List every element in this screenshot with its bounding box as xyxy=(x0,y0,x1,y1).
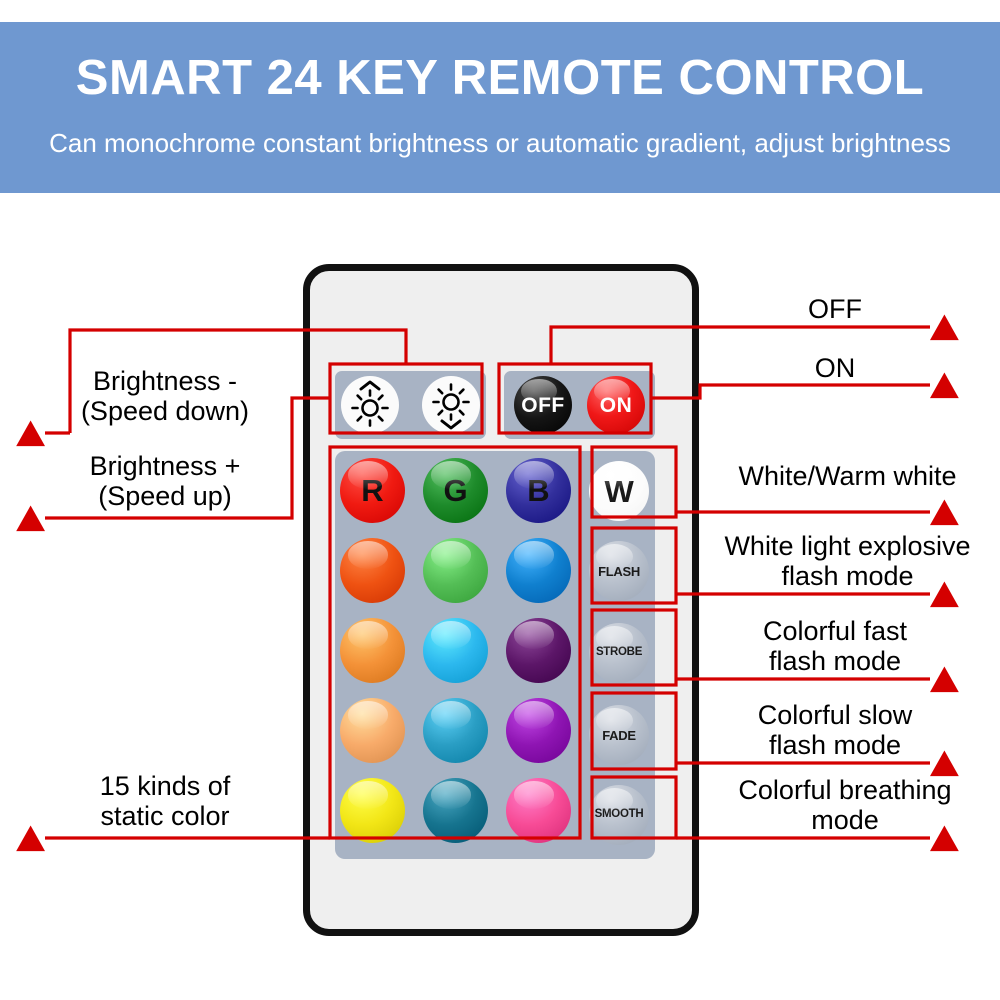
white-button[interactable]: W xyxy=(589,461,649,521)
callout-white-label: White/Warm white xyxy=(700,461,995,491)
keypad-panel: RGBWFLASHSTROBEFADESMOOTH xyxy=(335,451,655,859)
color-button-6[interactable] xyxy=(506,538,571,603)
callout-flash-line1: White light explosive xyxy=(695,531,1000,561)
color-button-15[interactable] xyxy=(506,778,571,843)
callout-smooth-line1: Colorful breathing xyxy=(695,775,995,805)
callout-flash-label: White light explosive flash mode xyxy=(695,531,1000,591)
color-button-4[interactable] xyxy=(340,538,405,603)
color-button-b[interactable]: B xyxy=(506,458,571,523)
color-button-5[interactable] xyxy=(423,538,488,603)
callout-on-label: ON xyxy=(700,353,970,383)
callout-off-label: OFF xyxy=(700,294,970,324)
off-button[interactable]: OFF xyxy=(514,376,572,434)
callout-brightness-down-label: Brightness - (Speed down) xyxy=(30,366,300,426)
callout-off-line1: OFF xyxy=(700,294,970,324)
callout-smooth-line2: mode xyxy=(695,805,995,835)
color-button-r[interactable]: R xyxy=(340,458,405,523)
callout-brightness-down-line2: (Speed down) xyxy=(30,396,300,426)
smooth-button[interactable]: SMOOTH xyxy=(589,785,649,845)
smooth-button-label: SMOOTH xyxy=(595,809,644,821)
brightness-up-button[interactable] xyxy=(341,376,399,434)
callout-brightness-up-line2: (Speed up) xyxy=(30,481,300,511)
brightness-down-button[interactable] xyxy=(422,376,480,434)
callout-strobe-line1: Colorful fast xyxy=(700,616,970,646)
remote-control-body: OFF ON RGBWFLASHSTROBEFADESMOOTH xyxy=(303,264,699,936)
color-button-12[interactable] xyxy=(506,698,571,763)
callout-fade-line1: Colorful slow xyxy=(700,700,970,730)
sun-down-arrow-icon xyxy=(428,380,474,430)
color-button-10[interactable] xyxy=(340,698,405,763)
callout-brightness-up-line1: Brightness + xyxy=(30,451,300,481)
white-button-label: W xyxy=(605,476,634,507)
callout-fade-line2: flash mode xyxy=(700,730,970,760)
strobe-button[interactable]: STROBE xyxy=(589,623,649,683)
page-title: SMART 24 KEY REMOTE CONTROL xyxy=(0,54,1000,103)
callout-smooth-label: Colorful breathing mode xyxy=(695,775,995,835)
color-button-g[interactable]: G xyxy=(423,458,488,523)
flash-button[interactable]: FLASH xyxy=(589,541,649,601)
color-button-9[interactable] xyxy=(506,618,571,683)
header-banner: SMART 24 KEY REMOTE CONTROL Can monochro… xyxy=(0,22,1000,193)
off-button-label: OFF xyxy=(521,395,565,416)
color-button-label: B xyxy=(527,475,549,506)
callout-flash-line2: flash mode xyxy=(695,561,1000,591)
on-button[interactable]: ON xyxy=(587,376,645,434)
callout-static-colors-line1: 15 kinds of xyxy=(30,771,300,801)
brightness-panel xyxy=(335,371,486,439)
callout-strobe-label: Colorful fast flash mode xyxy=(700,616,970,676)
callout-strobe-line2: flash mode xyxy=(700,646,970,676)
callout-white-line1: White/Warm white xyxy=(700,461,995,491)
callout-on-line1: ON xyxy=(700,353,970,383)
color-button-label: R xyxy=(361,475,383,506)
fade-button-label: FADE xyxy=(602,729,635,742)
color-button-7[interactable] xyxy=(340,618,405,683)
power-panel: OFF ON xyxy=(504,371,655,439)
fade-button[interactable]: FADE xyxy=(589,705,649,765)
callout-static-colors-label: 15 kinds of static color xyxy=(30,771,300,831)
callout-brightness-up-label: Brightness + (Speed up) xyxy=(30,451,300,511)
on-button-label: ON xyxy=(600,395,633,416)
color-button-label: G xyxy=(443,475,467,506)
color-button-11[interactable] xyxy=(423,698,488,763)
flash-button-label: FLASH xyxy=(598,565,640,578)
sun-up-arrow-icon xyxy=(347,380,393,430)
callout-static-colors-line2: static color xyxy=(30,801,300,831)
color-button-13[interactable] xyxy=(340,778,405,843)
callout-brightness-down-line1: Brightness - xyxy=(30,366,300,396)
color-button-14[interactable] xyxy=(423,778,488,843)
callout-fade-label: Colorful slow flash mode xyxy=(700,700,970,760)
color-button-8[interactable] xyxy=(423,618,488,683)
strobe-button-label: STROBE xyxy=(596,647,642,659)
page-subtitle: Can monochrome constant brightness or au… xyxy=(0,130,1000,156)
